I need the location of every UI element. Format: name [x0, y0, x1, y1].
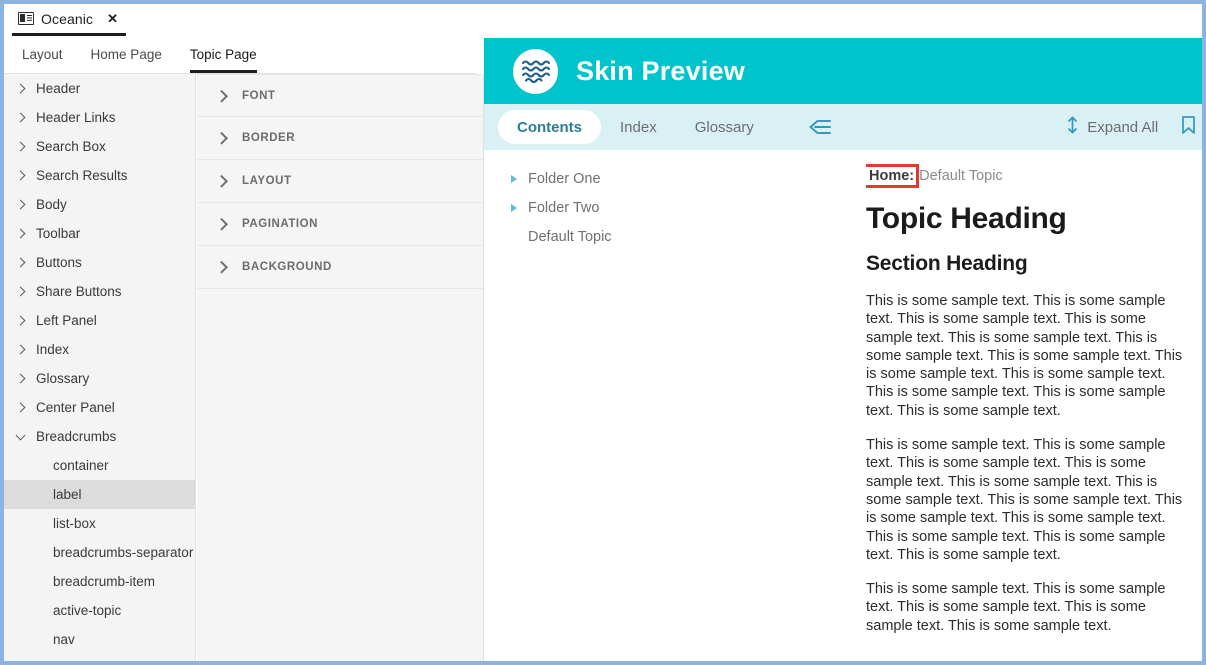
- tree-item[interactable]: Share Buttons: [4, 277, 195, 306]
- tree-item[interactable]: breadcrumbs-separator: [4, 538, 195, 567]
- tree-item[interactable]: container: [4, 451, 195, 480]
- accordion-section[interactable]: LAYOUT: [197, 160, 483, 203]
- triangle-right-icon[interactable]: [508, 172, 522, 186]
- tree-item-label: Index: [36, 342, 69, 357]
- accordion-section-label: BACKGROUND: [242, 261, 332, 273]
- preview-body: Folder OneFolder TwoDefault Topic Home: …: [484, 150, 1202, 661]
- toc-item-label: Folder One: [528, 171, 601, 187]
- page-tab-bar: Layout Home Page Topic Page: [4, 36, 476, 74]
- preview-tab-glossary[interactable]: Glossary: [676, 110, 773, 144]
- chevron-right-icon: [214, 130, 230, 146]
- tree-item[interactable]: Search Box: [4, 132, 195, 161]
- preview-tab-index[interactable]: Index: [601, 110, 676, 144]
- tree-item-label: label: [53, 487, 82, 502]
- style-tree-panel[interactable]: HeaderHeader LinksSearch BoxSearch Resul…: [4, 74, 196, 661]
- chevron-right-icon[interactable]: [14, 197, 30, 213]
- section-heading: Section Heading: [866, 252, 1194, 276]
- tree-item-label: container: [53, 458, 109, 473]
- preview-toolbar: Contents Index Glossary: [484, 104, 1202, 150]
- chevron-right-icon: [214, 216, 230, 232]
- preview-title: Skin Preview: [576, 56, 745, 87]
- toolbar-right-group: Expand All R: [1066, 104, 1202, 150]
- tree-item[interactable]: Breadcrumbs: [4, 422, 195, 451]
- toc-item[interactable]: Default Topic: [484, 222, 866, 251]
- chevron-right-icon[interactable]: [14, 284, 30, 300]
- chevron-right-icon[interactable]: [14, 110, 30, 126]
- tree-item[interactable]: Toolbar: [4, 219, 195, 248]
- tree-item-label: Center Panel: [36, 400, 115, 415]
- accordion-section-label: BORDER: [242, 132, 295, 144]
- accordion-section[interactable]: BACKGROUND: [197, 246, 483, 289]
- preview-header: Skin Preview: [484, 38, 1202, 104]
- accordion-section[interactable]: PAGINATION: [197, 203, 483, 246]
- chevron-right-icon[interactable]: [14, 400, 30, 416]
- chevron-down-icon[interactable]: [14, 429, 30, 445]
- tree-item-label: nav: [53, 632, 75, 647]
- tree-item-label: Glossary: [36, 371, 89, 386]
- document-tab-label: Oceanic: [41, 11, 93, 27]
- application-window: Oceanic ✕ Layout Home Page Topic Page He…: [0, 0, 1206, 665]
- tree-item[interactable]: Buttons: [4, 248, 195, 277]
- topic-content: Home: Default Topic Topic Heading Sectio…: [866, 150, 1202, 661]
- tree-item[interactable]: list-box: [4, 509, 195, 538]
- chevron-right-icon[interactable]: [14, 342, 30, 358]
- tree-item-label: Body: [36, 197, 67, 212]
- accordion-section[interactable]: BORDER: [197, 117, 483, 160]
- tab-topic-page[interactable]: Topic Page: [190, 47, 257, 73]
- tree-item-label: Share Buttons: [36, 284, 122, 299]
- chevron-right-icon[interactable]: [14, 255, 30, 271]
- skin-preview-pane: Skin Preview Contents Index Glossary: [484, 38, 1202, 661]
- collapse-left-icon[interactable]: [807, 117, 833, 137]
- tree-item[interactable]: active-topic: [4, 596, 195, 625]
- tree-item-label: Header Links: [36, 110, 116, 125]
- accordion-section-label: LAYOUT: [242, 175, 292, 187]
- tree-item-label: Toolbar: [36, 226, 80, 241]
- breadcrumb-active-topic[interactable]: Default Topic: [919, 168, 1003, 184]
- tree-item-label: Breadcrumbs: [36, 429, 116, 444]
- expand-vertical-icon: [1066, 115, 1079, 139]
- tree-item[interactable]: Center Panel: [4, 393, 195, 422]
- triangle-right-icon[interactable]: [508, 201, 522, 215]
- tree-item[interactable]: Index: [4, 335, 195, 364]
- topic-paragraph: This is some sample text. This is some s…: [866, 436, 1188, 564]
- toc-item-label: Folder Two: [528, 200, 599, 216]
- tree-item[interactable]: nav: [4, 625, 195, 654]
- toc-item[interactable]: Folder Two: [484, 193, 866, 222]
- tree-item[interactable]: Left Panel: [4, 306, 195, 335]
- tree-item[interactable]: Search Results: [4, 161, 195, 190]
- tree-item[interactable]: Header: [4, 74, 195, 103]
- accordion-section-label: FONT: [242, 90, 276, 102]
- waves-circle-logo: [513, 49, 558, 94]
- chevron-right-icon[interactable]: [14, 81, 30, 97]
- chevron-right-icon[interactable]: [14, 226, 30, 242]
- chevron-right-icon: [214, 173, 230, 189]
- expand-all-label: Expand All: [1087, 119, 1158, 136]
- bookmark-icon: [1180, 114, 1197, 140]
- document-tab-strip: Oceanic ✕: [4, 4, 1202, 36]
- table-of-contents[interactable]: Folder OneFolder TwoDefault Topic: [484, 150, 866, 661]
- tree-item-label: Search Results: [36, 168, 128, 183]
- accordion-section-label: PAGINATION: [242, 218, 318, 230]
- chevron-right-icon: [214, 259, 230, 275]
- tree-item-label: Search Box: [36, 139, 106, 154]
- tree-item-label: breadcrumb-item: [53, 574, 155, 589]
- toc-item[interactable]: Folder One: [484, 164, 866, 193]
- document-icon: [18, 12, 34, 25]
- chevron-right-icon[interactable]: [14, 168, 30, 184]
- tree-item-label: breadcrumbs-separator: [53, 545, 193, 560]
- accordion-section[interactable]: FONT: [197, 74, 483, 117]
- tree-item[interactable]: Header Links: [4, 103, 195, 132]
- tree-item[interactable]: Body: [4, 190, 195, 219]
- chevron-right-icon[interactable]: [14, 371, 30, 387]
- chevron-right-icon: [214, 88, 230, 104]
- tree-item[interactable]: breadcrumb-item: [4, 567, 195, 596]
- tree-item[interactable]: Glossary: [4, 364, 195, 393]
- tree-item-label: Left Panel: [36, 313, 97, 328]
- toc-item-label: Default Topic: [528, 229, 612, 245]
- tree-item-label: Buttons: [36, 255, 82, 270]
- tab-home-page[interactable]: Home Page: [91, 47, 162, 73]
- tree-item-label: Header: [36, 81, 80, 96]
- tree-item-label: list-box: [53, 516, 96, 531]
- chevron-right-icon[interactable]: [14, 313, 30, 329]
- tab-layout[interactable]: Layout: [22, 47, 63, 73]
- document-tab-oceanic[interactable]: Oceanic ✕: [12, 4, 126, 36]
- property-accordion-panel[interactable]: FONTBORDERLAYOUTPAGINATIONBACKGROUND: [197, 74, 484, 661]
- breadcrumb: Home: Default Topic: [866, 164, 1194, 188]
- preview-tab-contents[interactable]: Contents: [498, 110, 601, 144]
- topic-heading: Topic Heading: [866, 202, 1194, 236]
- expand-all-button[interactable]: Expand All: [1066, 115, 1158, 139]
- bookmark-button[interactable]: R: [1180, 114, 1202, 140]
- close-icon[interactable]: ✕: [107, 12, 118, 25]
- topic-paragraph: This is some sample text. This is some s…: [866, 580, 1188, 635]
- topic-paragraph: This is some sample text. This is some s…: [866, 292, 1188, 420]
- tree-item[interactable]: label: [4, 480, 195, 509]
- breadcrumb-label-home[interactable]: Home:: [866, 167, 916, 185]
- tree-item-label: active-topic: [53, 603, 121, 618]
- chevron-right-icon[interactable]: [14, 139, 30, 155]
